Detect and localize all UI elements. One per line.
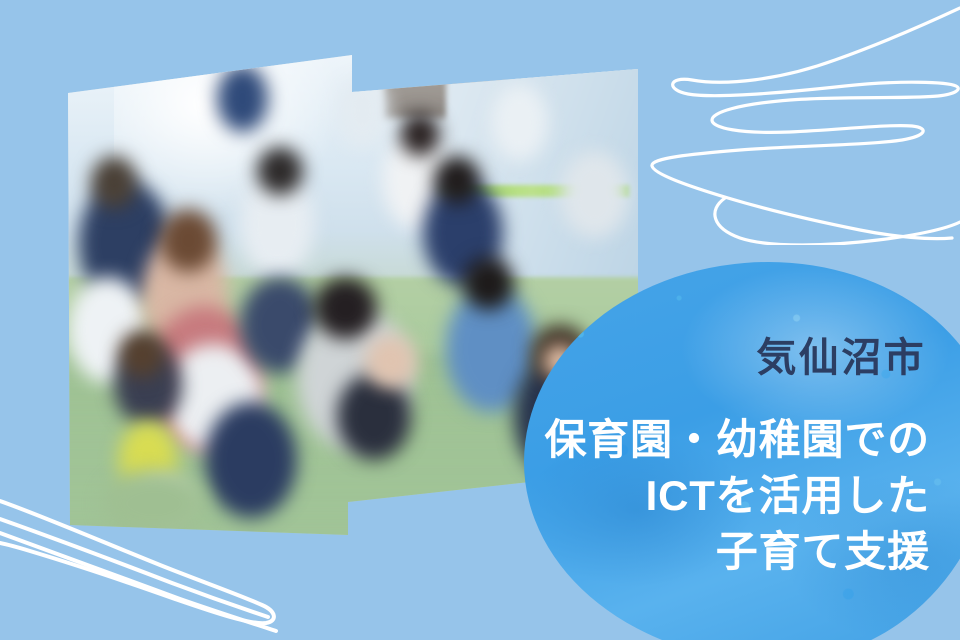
city-label: 気仙沼市 — [756, 338, 926, 378]
photo-figure — [434, 156, 480, 204]
poster-canvas: 気仙沼市 保育園・幼稚園での ICTを活用した 子育て支援 — [0, 0, 960, 640]
headline-line-3: 子育て支援 — [544, 524, 930, 580]
photo-figure — [102, 470, 205, 537]
photo-figure — [337, 74, 388, 146]
photo-figure — [160, 209, 217, 272]
photo-figure — [217, 65, 268, 132]
headline: 保育園・幼稚園での ICTを活用した 子育て支援 — [544, 412, 930, 580]
photo-figure — [314, 277, 377, 340]
photo-figure — [91, 156, 137, 209]
photo-figure — [205, 402, 297, 518]
squiggle-line-decoration-top-right — [630, 0, 960, 245]
headline-line-2: ICTを活用した — [544, 468, 930, 524]
photo-figure — [400, 113, 440, 156]
headline-line-1: 保育園・幼稚園での — [544, 412, 930, 468]
photo-figure — [560, 151, 629, 238]
photo-figure — [119, 330, 165, 378]
photo-figure — [491, 84, 548, 161]
photo-figure — [365, 335, 416, 388]
photo-figure — [257, 147, 303, 195]
